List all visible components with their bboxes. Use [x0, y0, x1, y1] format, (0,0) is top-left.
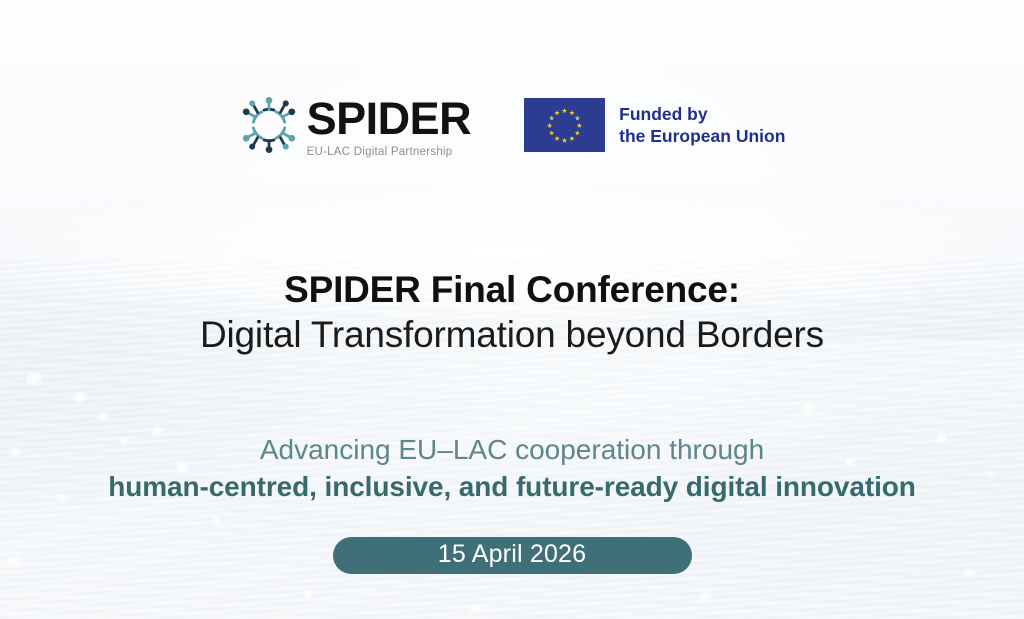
date-badge-label: 15 April 2026: [438, 542, 587, 567]
logo-row: SPIDER EU-LAC Digital Partnership: [0, 92, 1024, 158]
page-title-line2: Digital Transformation beyond Borders: [0, 312, 1024, 358]
spider-logo: SPIDER EU-LAC Digital Partnership: [239, 92, 472, 158]
date-badge: 15 April 2026: [333, 537, 692, 574]
conference-title-slide: SPIDER EU-LAC Digital Partnership: [0, 0, 1024, 619]
spider-tagline: EU-LAC Digital Partnership: [307, 146, 453, 158]
spider-wordmark: SPIDER: [307, 96, 472, 141]
page-subtitle: Advancing EU–LAC cooperation through hum…: [0, 432, 1024, 506]
spider-network-icon: [239, 95, 299, 155]
date-badge-container: 15 April 2026: [0, 537, 1024, 574]
eu-funding-text-line2: the European Union: [619, 125, 785, 147]
page-title-line1: SPIDER Final Conference:: [0, 268, 1024, 312]
page-subtitle-line2: human-centred, inclusive, and future-rea…: [0, 468, 1024, 506]
page-subtitle-line1: Advancing EU–LAC cooperation through: [0, 432, 1024, 468]
eu-funding-text: Funded by the European Union: [619, 103, 785, 148]
eu-funding-text-line1: Funded by: [619, 103, 785, 125]
european-union-flag: [524, 98, 605, 152]
spider-wordmark-block: SPIDER EU-LAC Digital Partnership: [307, 92, 472, 158]
page-title: SPIDER Final Conference: Digital Transfo…: [0, 268, 1024, 358]
eu-funding-logo: Funded by the European Union: [524, 98, 785, 152]
